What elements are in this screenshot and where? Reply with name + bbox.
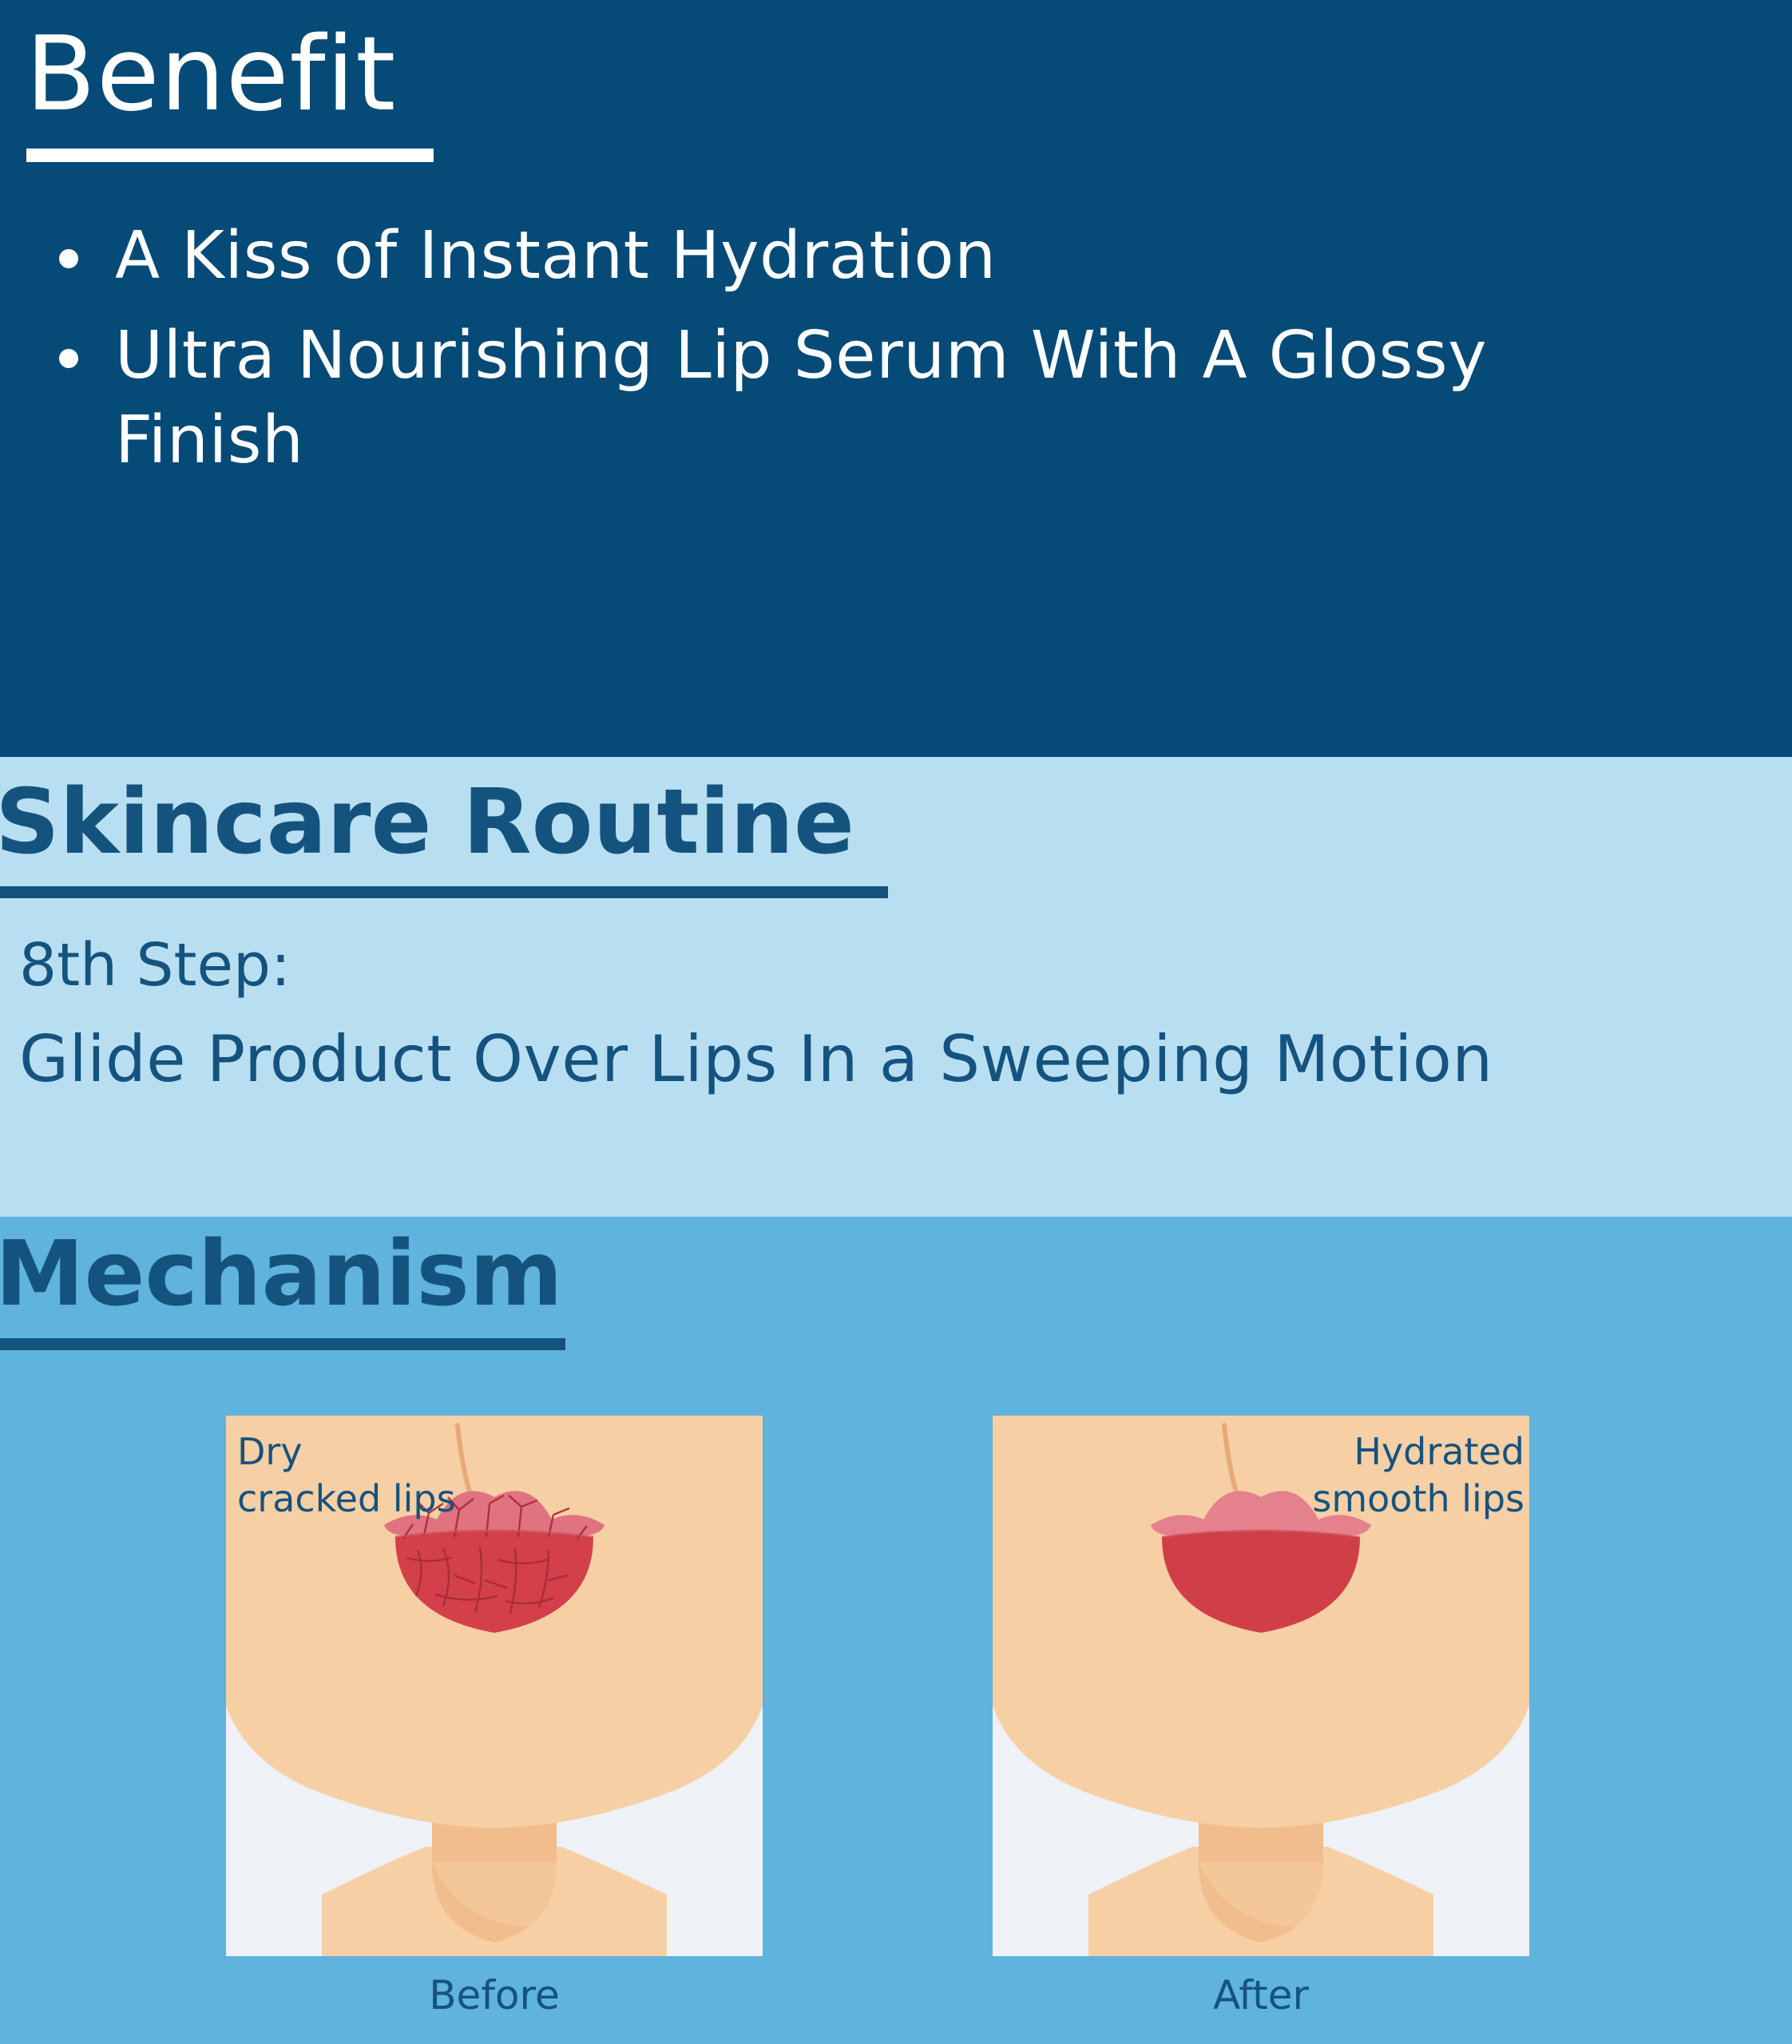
- before-face-illustration: [226, 1416, 763, 1956]
- benefit-heading: Benefit: [26, 21, 396, 129]
- routine-heading-underline: [0, 886, 888, 898]
- after-face-illustration: [993, 1416, 1529, 1956]
- routine-step-label: 8th Step:: [19, 931, 291, 1000]
- mechanism-section: Mechanism: [0, 1217, 1792, 2044]
- benefit-section: Benefit A Kiss of Instant Hydration Ultr…: [0, 0, 1792, 757]
- mechanism-heading-underline: [0, 1338, 565, 1350]
- infographic-page: Benefit A Kiss of Instant Hydration Ultr…: [0, 0, 1792, 2044]
- benefit-list: A Kiss of Instant Hydration Ultra Nouris…: [48, 214, 1613, 498]
- skincare-routine-section: Skincare Routine 8th Step: Glide Product…: [0, 757, 1792, 1217]
- mechanism-heading: Mechanism: [0, 1228, 563, 1322]
- after-face-card: Hydrated smooth lips: [993, 1416, 1529, 1956]
- bullet-dot-icon: [59, 349, 78, 368]
- bullet-dot-icon: [59, 249, 78, 268]
- before-face-card: Dry cracked lips: [226, 1416, 763, 1956]
- benefit-list-item-label: Ultra Nourishing Lip Serum With A Glossy…: [115, 318, 1487, 479]
- benefit-list-item: Ultra Nourishing Lip Serum With A Glossy…: [48, 314, 1613, 484]
- benefit-list-item-label: A Kiss of Instant Hydration: [115, 218, 997, 294]
- benefit-list-item: A Kiss of Instant Hydration: [48, 214, 1613, 299]
- routine-step-text: Glide Product Over Lips In a Sweeping Mo…: [19, 1022, 1493, 1096]
- after-caption: After: [993, 1972, 1529, 2018]
- benefit-heading-underline: [26, 149, 434, 162]
- routine-heading: Skincare Routine: [0, 776, 854, 870]
- before-caption: Before: [226, 1972, 763, 2018]
